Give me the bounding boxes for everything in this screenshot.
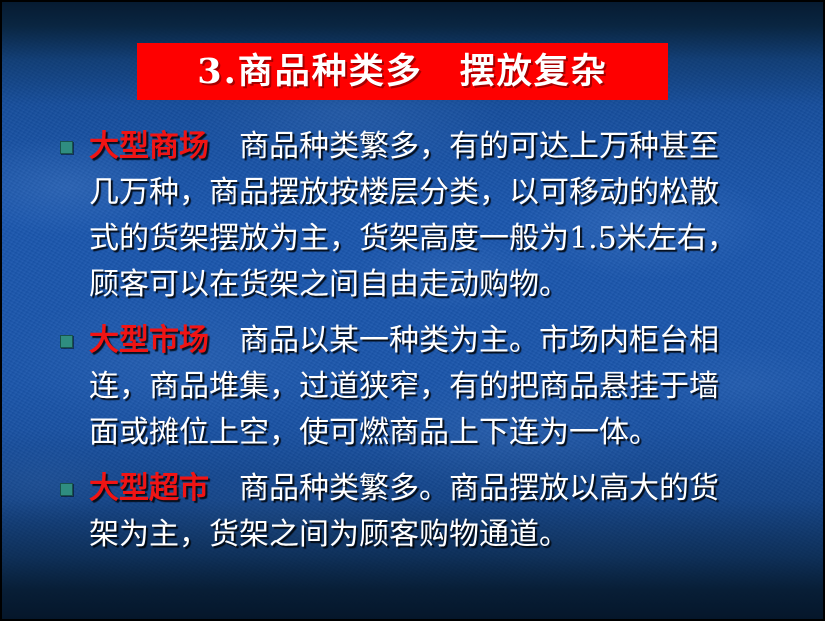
slide-body: 大型商场 商品种类繁多，有的可达上万种甚至 几万种，商品摆放按楼层分类，以可移动… <box>52 124 778 568</box>
bullet-3-line-1: 大型超市 商品种类繁多。商品摆放以高大的货 <box>89 466 778 512</box>
square-bullet-icon <box>60 335 73 348</box>
bullet-2-lead: 大型市场 <box>89 323 239 358</box>
bullet-3-lead: 大型超市 <box>89 471 239 506</box>
bullet-2-line-2: 连，商品堆集，过道狭窄，有的把商品悬挂于墙 <box>89 364 778 410</box>
bullet-1-lead: 大型商场 <box>89 129 239 164</box>
bullet-1-text-1: 商品种类繁多，有的可达上万种甚至 <box>239 129 719 164</box>
square-bullet-icon <box>60 483 73 496</box>
bullet-1-line-1: 大型商场 商品种类繁多，有的可达上万种甚至 <box>89 124 778 170</box>
bullet-2-line-1: 大型市场 商品以某一种类为主。市场内柜台相 <box>89 318 778 364</box>
bullet-3-text-1: 商品种类繁多。商品摆放以高大的货 <box>239 471 719 506</box>
bullet-3-line-2: 架为主，货架之间为顾客购物通道。 <box>89 512 778 558</box>
bullet-2-line-3: 面或摊位上空，使可燃商品上下连为一体。 <box>89 410 778 456</box>
page-title: 3.商品种类多 摆放复杂 <box>197 54 608 89</box>
presentation-slide: 3.商品种类多 摆放复杂 大型商场 商品种类繁多，有的可达上万种甚至 几万种，商… <box>0 0 825 621</box>
bullet-1-line-3: 式的货架摆放为主，货架高度一般为1.5米左右， <box>89 216 778 262</box>
bullet-2-text-1: 商品以某一种类为主。市场内柜台相 <box>239 323 719 358</box>
bullet-item-1: 大型商场 商品种类繁多，有的可达上万种甚至 几万种，商品摆放按楼层分类，以可移动… <box>52 124 778 308</box>
bullet-1-line-4: 顾客可以在货架之间自由走动购物。 <box>89 262 778 308</box>
bullet-1-line-2: 几万种，商品摆放按楼层分类，以可移动的松散 <box>89 170 778 216</box>
title-banner: 3.商品种类多 摆放复杂 <box>137 43 668 100</box>
square-bullet-icon <box>60 141 73 154</box>
bullet-item-2: 大型市场 商品以某一种类为主。市场内柜台相 连，商品堆集，过道狭窄，有的把商品悬… <box>52 318 778 456</box>
bullet-item-3: 大型超市 商品种类繁多。商品摆放以高大的货 架为主，货架之间为顾客购物通道。 <box>52 466 778 558</box>
